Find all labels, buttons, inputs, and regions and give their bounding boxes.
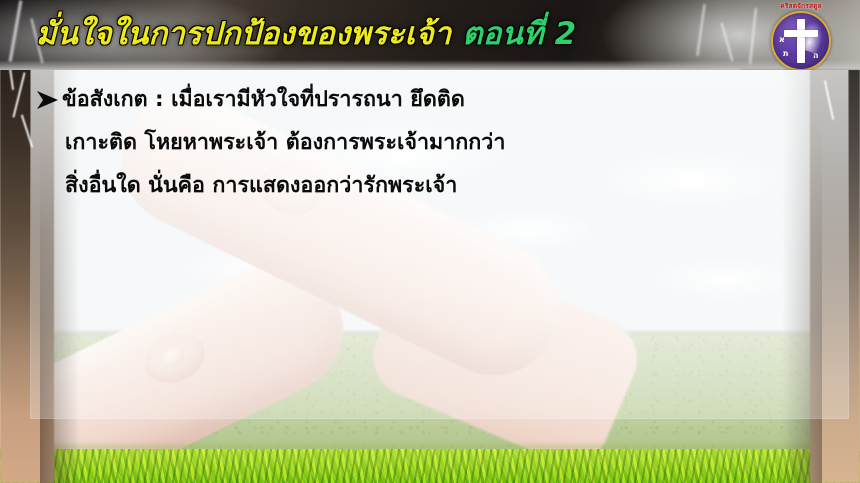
church-logo: คริสตจักรสตูล א ת ה Satun Assembly of Go… bbox=[747, 0, 855, 70]
logo-hebrew-hey: ה bbox=[813, 51, 819, 60]
bullet-line-1: ข้อสังเกต : เมื่อเรามีหัวใจที่ปรารถนา ยึ… bbox=[36, 78, 736, 121]
logo-cross-horizontal bbox=[784, 30, 818, 37]
bullet-line-text: ข้อสังเกต : เมื่อเรามีหัวใจที่ปรารถนา ยึ… bbox=[62, 78, 465, 121]
header-bottom-fade bbox=[0, 60, 860, 70]
slide-title-secondary: ตอนที่ 2 bbox=[462, 16, 576, 52]
slide-body-text: ข้อสังเกต : เมื่อเรามีหัวใจที่ปรารถนา ยึ… bbox=[36, 78, 736, 207]
bullet-line-text: สิ่งอื่นใด นั่นคือ การแสดงออกว่ารักพระเจ… bbox=[65, 164, 457, 207]
logo-hebrew-aleph: א bbox=[779, 35, 785, 44]
logo-disc: א ת ה bbox=[771, 11, 831, 70]
slide-header: มั่นใจในการปกป้องของพระเจ้า ตอนที่ 2 คริ… bbox=[0, 0, 860, 70]
arrowhead-bullet-icon bbox=[36, 78, 62, 121]
logo-cross-vertical bbox=[797, 19, 805, 63]
slide-title: มั่นใจในการปกป้องของพระเจ้า ตอนที่ 2 bbox=[36, 7, 576, 61]
bullet-line-text: เกาะติด โหยหาพระเจ้า ต้องการพระเจ้ามากกว… bbox=[65, 121, 505, 164]
presentation-slide: ข้อสังเกต : เมื่อเรามีหัวใจที่ปรารถนา ยึ… bbox=[0, 0, 860, 483]
slide-title-primary: มั่นใจในการปกป้องของพระเจ้า bbox=[36, 16, 451, 52]
logo-hebrew-tav: ת bbox=[783, 49, 788, 58]
logo-thai-name: คริสตจักรสตูล bbox=[780, 1, 821, 11]
bullet-line-3: สิ่งอื่นใด นั่นคือ การแสดงออกว่ารักพระเจ… bbox=[36, 164, 736, 207]
bullet-line-2: เกาะติด โหยหาพระเจ้า ต้องการพระเจ้ามากกว… bbox=[36, 121, 736, 164]
